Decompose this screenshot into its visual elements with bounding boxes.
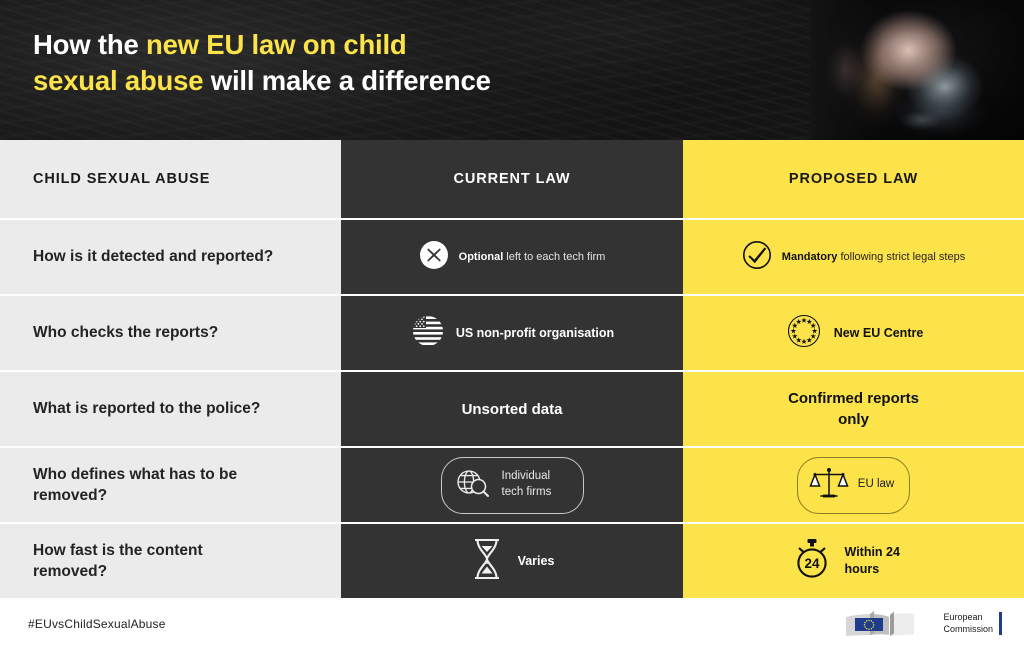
proposed-law-cell: New EU Centre [683,296,1024,370]
answer-bold: Mandatory [782,251,838,263]
proposed-law-cell: Confirmed reports only [683,372,1024,446]
stopwatch-24-icon: 24 [789,536,835,587]
cross-circle-icon [419,240,449,275]
title-part-1: How the [33,29,146,60]
current-law-cell: US non-profit organisation [341,296,683,370]
header-cell-current-law: CURRENT LAW [341,140,683,218]
current-law-answer: Individual tech firms [502,469,568,500]
infographic-root: How the new EU law on child sexual abuse… [0,0,1024,647]
question-text: What is reported to the police? [33,398,260,419]
current-law-answer: Varies [518,553,555,570]
table-row: How fast is the content removed? [0,524,1024,598]
current-law-cell: Varies [341,524,683,598]
current-law-cell: Optional left to each tech firm [341,220,683,294]
question-cell: Who checks the reports? [0,296,341,370]
current-law-answer: Unsorted data [462,399,563,420]
title-part-3: sexual abuse [33,65,203,96]
ec-logo-text: European Commission [943,612,1002,635]
answer-rest: following strict legal steps [837,251,965,263]
current-law-cell: Individual tech firms [341,448,683,522]
stopwatch-value: 24 [804,556,820,571]
table-header-row: CHILD SEXUAL ABUSE CURRENT LAW PROPOSED … [0,140,1024,218]
scales-of-justice-icon [809,465,849,506]
page-title: How the new EU law on child sexual abuse… [33,27,491,100]
table-row: What is reported to the police? Unsorted… [0,372,1024,446]
ec-emblem-icon [844,609,936,639]
check-circle-icon [742,240,772,275]
question-cell: Who defines what has to be removed? [0,448,341,522]
ec-logo-line2: Commission [943,624,993,634]
header-current-law-label: CURRENT LAW [453,171,570,187]
globe-search-icon [453,465,493,506]
header-proposed-law-label: PROPOSED LAW [789,171,918,187]
table-row: Who checks the reports? [0,296,1024,370]
proposed-law-answer: EU law [858,477,894,493]
hourglass-icon [470,536,504,587]
eu-stars-circle-icon [784,311,824,356]
answer-bold: Optional [459,251,504,263]
question-cell: How is it detected and reported? [0,220,341,294]
proposed-law-cell: Mandatory following strict legal steps [683,220,1024,294]
proposed-law-cell: 24 Within 24 hours [683,524,1024,598]
proposed-law-answer: Confirmed reports only [774,388,934,430]
hashtag-label: #EUvsChildSexualAbuse [28,617,166,631]
question-text: Who defines what has to be removed? [33,464,253,507]
header-cell-proposed-law: PROPOSED LAW [683,140,1024,218]
header-photo [810,0,1024,140]
header-banner: How the new EU law on child sexual abuse… [0,0,1024,140]
header-cell-topic: CHILD SEXUAL ABUSE [0,140,341,218]
header-topic-label: CHILD SEXUAL ABUSE [33,171,210,187]
proposed-law-cell: EU law [683,448,1024,522]
question-cell: What is reported to the police? [0,372,341,446]
title-part-2: new EU law on child [146,29,407,60]
title-part-4: will make a difference [203,65,490,96]
proposed-law-answer: New EU Centre [834,325,924,342]
question-cell: How fast is the content removed? [0,524,341,598]
ec-logo-line1: European [943,612,982,622]
answer-rest: left to each tech firm [503,251,605,263]
current-law-answer: Optional left to each tech firm [459,249,606,265]
current-law-answer: US non-profit organisation [456,325,614,342]
photo-left-fade [810,0,1024,140]
question-text: How fast is the content removed? [33,540,263,583]
table-row: Who defines what has to be removed? [0,448,1024,522]
comparison-table: CHILD SEXUAL ABUSE CURRENT LAW PROPOSED … [0,140,1024,598]
question-text: How is it detected and reported? [33,246,273,267]
current-law-cell: Unsorted data [341,372,683,446]
proposed-law-pill: EU law [797,457,910,514]
us-flag-circle-icon [410,313,446,354]
footer-bar: #EUvsChildSexualAbuse [0,600,1024,647]
table-row: How is it detected and reported? Optiona… [0,220,1024,294]
european-commission-logo: European Commission [844,609,1002,639]
current-law-pill: Individual tech firms [441,457,584,514]
question-text: Who checks the reports? [33,322,218,343]
proposed-law-answer: Within 24 hours [845,544,919,578]
proposed-law-answer: Mandatory following strict legal steps [782,249,965,265]
